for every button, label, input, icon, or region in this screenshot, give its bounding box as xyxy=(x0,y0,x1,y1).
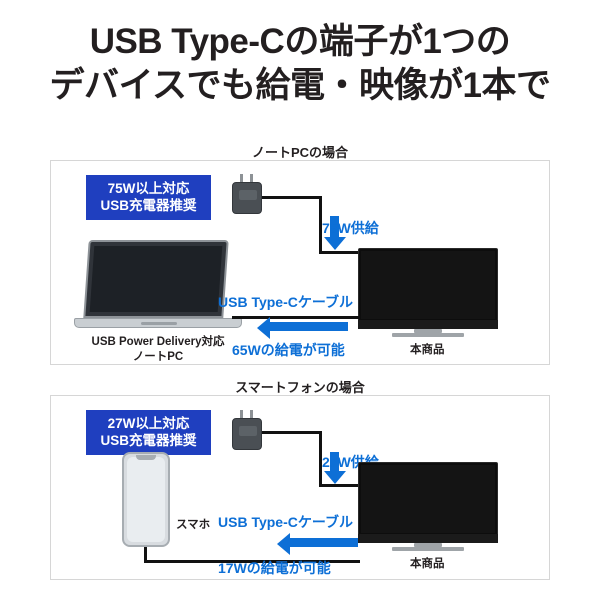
adapter-prong-icon xyxy=(240,410,243,418)
cable-label-laptop: USB Type-Cケーブル xyxy=(218,292,353,312)
adapter-body xyxy=(232,418,262,450)
cable-laptop-monitor xyxy=(232,316,360,319)
phone-label: スマホ xyxy=(176,516,210,532)
laptop-label: USB Power Delivery対応 ノートPC xyxy=(60,335,256,365)
callout-charger-laptop: 75W以上対応 USB充電器推奨 xyxy=(86,175,211,220)
smartphone-device xyxy=(122,452,170,547)
return-label-laptop: 65Wの給電が可能 xyxy=(232,340,345,360)
callout-charger-phone: 27W以上対応 USB充電器推奨 xyxy=(86,410,211,455)
page-title: USB Type-Cの端子が1つの デバイスでも給電・映像が1本で xyxy=(0,20,600,108)
phone-frame xyxy=(122,452,170,547)
monitor-stand-base xyxy=(392,547,464,551)
adapter-body xyxy=(232,182,262,214)
ac-adapter-laptop xyxy=(232,182,262,214)
monitor-chin xyxy=(358,320,498,329)
cable-adapter-laptop-h2 xyxy=(319,251,361,254)
callout-laptop-line-1: 75W以上対応 xyxy=(108,181,190,196)
callout-laptop-line-2: USB充電器推奨 xyxy=(100,198,196,213)
ac-adapter-phone xyxy=(232,418,262,450)
monitor-screen xyxy=(358,248,498,328)
monitor-chin xyxy=(358,534,498,543)
cable-adapter-phone-h xyxy=(262,431,322,434)
adapter-prong-icon xyxy=(240,174,243,182)
monitor-label-laptop: 本商品 xyxy=(410,341,445,357)
diagram-page: USB Type-Cの端子が1つの デバイスでも給電・映像が1本で ノートPCの… xyxy=(0,0,600,600)
callout-phone-line-2: USB充電器推奨 xyxy=(100,433,196,448)
section-caption-phone: スマートフォンの場合 xyxy=(0,377,600,396)
return-arrow-phone-shaft xyxy=(290,538,358,547)
monitor-label-phone: 本商品 xyxy=(410,555,445,571)
phone-notch-icon xyxy=(136,455,156,460)
return-label-phone: 17Wの給電が可能 xyxy=(218,558,331,578)
monitor-screen xyxy=(358,462,498,542)
return-arrow-laptop-head xyxy=(257,317,270,339)
laptop-label-line-2: ノートPC xyxy=(133,351,183,363)
callout-phone-line-1: 27W以上対応 xyxy=(108,416,190,431)
laptop-label-line-1: USB Power Delivery対応 xyxy=(92,336,225,348)
adapter-prong-icon xyxy=(250,410,253,418)
supply-arrow-phone-head xyxy=(324,471,346,484)
monitor-phone xyxy=(358,462,498,552)
laptop-base xyxy=(74,318,242,328)
headline-line-2: デバイスでも給電・映像が1本で xyxy=(0,64,600,108)
monitor-stand-base xyxy=(392,333,464,337)
headline-line-1: USB Type-Cの端子が1つの xyxy=(90,22,511,61)
section-caption-laptop: ノートPCの場合 xyxy=(0,142,600,161)
return-arrow-laptop-shaft xyxy=(270,322,348,331)
cable-adapter-laptop-h xyxy=(262,196,322,199)
laptop-lid xyxy=(83,240,228,318)
cable-adapter-phone-h2 xyxy=(319,484,361,487)
cable-label-phone: USB Type-Cケーブル xyxy=(218,512,353,532)
supply-label-laptop: 75W供給 xyxy=(322,218,379,238)
adapter-prong-icon xyxy=(250,174,253,182)
monitor-laptop xyxy=(358,248,498,338)
supply-arrow-laptop-head xyxy=(324,237,346,250)
laptop-device xyxy=(74,240,242,328)
return-arrow-phone-head xyxy=(277,533,290,555)
